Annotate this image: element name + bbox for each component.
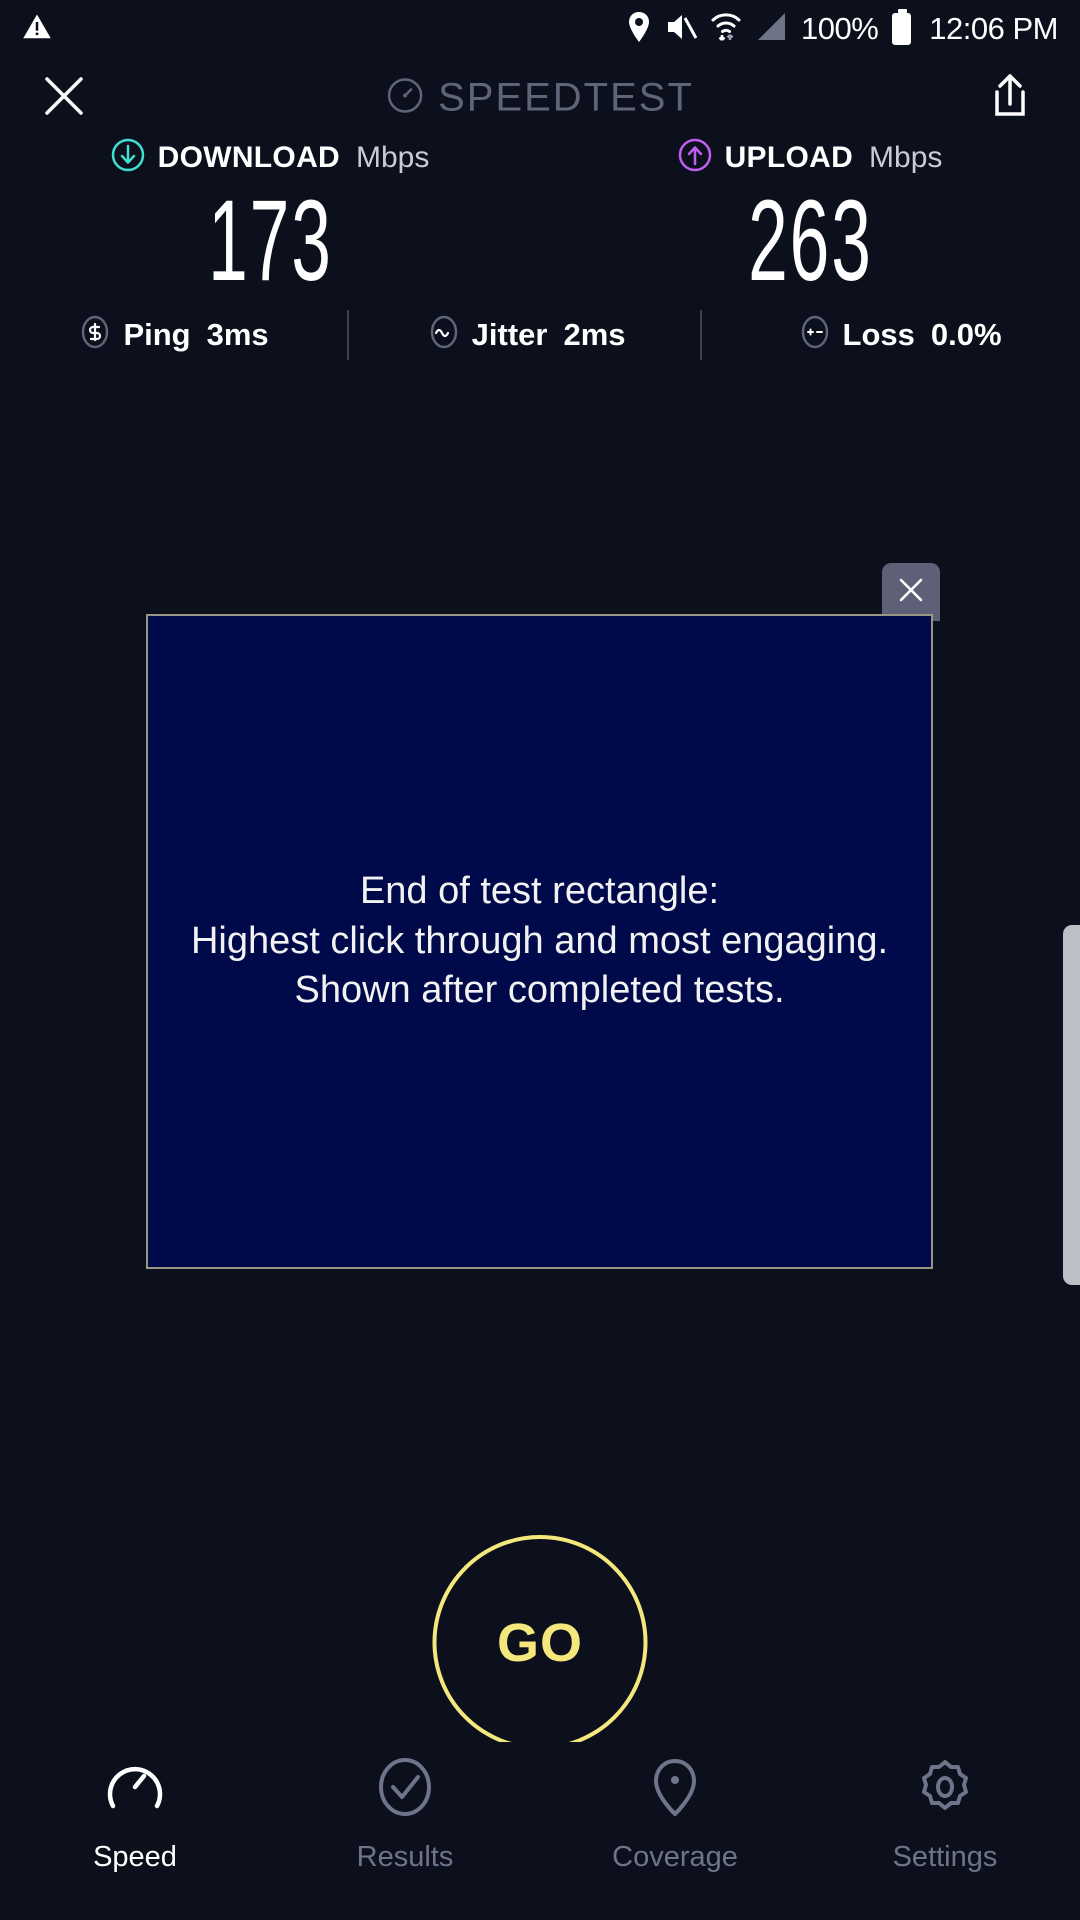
metric-divider-1 — [347, 310, 349, 360]
download-value: 173 — [208, 181, 333, 302]
status-bar: 100% 12:06 PM — [0, 0, 1080, 58]
nav-item-settings[interactable]: Settings — [810, 1756, 1080, 1874]
upload-unit: Mbps — [869, 141, 942, 175]
nav-label-results: Results — [357, 1841, 454, 1874]
ad-text-block: End of test rectangle: Highest click thr… — [181, 867, 898, 1015]
page-scrollbar[interactable] — [1063, 925, 1080, 1285]
loss-label: Loss — [843, 317, 915, 353]
wifi-icon — [711, 11, 741, 48]
ping-value: 3ms — [207, 317, 269, 353]
gear-icon — [914, 1756, 976, 1823]
ping-icon — [78, 315, 112, 354]
arrow-up-circle-icon — [678, 138, 712, 177]
location-pin-icon — [627, 11, 651, 48]
arrow-down-circle-icon — [111, 138, 145, 177]
cellular-signal-icon — [755, 11, 787, 48]
speedometer-icon — [104, 1756, 166, 1823]
close-x-icon — [42, 74, 86, 123]
ping-label: Ping — [123, 317, 190, 353]
metric-loss: Loss 0.0% — [794, 315, 1006, 354]
loss-value: 0.0% — [931, 317, 1002, 353]
nav-label-speed: Speed — [93, 1841, 177, 1874]
upload-header: UPLOAD Mbps — [678, 138, 943, 177]
battery-full-icon — [892, 13, 911, 45]
close-button[interactable] — [36, 70, 92, 126]
close-x-icon — [896, 575, 926, 610]
upload-label: UPLOAD — [725, 141, 853, 175]
app-header: SPEEDTEST — [0, 58, 1080, 138]
metric-jitter: Jitter 2ms — [423, 315, 630, 354]
go-button[interactable]: GO — [433, 1535, 648, 1750]
nav-item-coverage[interactable]: Coverage — [540, 1756, 810, 1874]
jitter-value: 2ms — [563, 317, 625, 353]
speedometer-icon — [386, 77, 424, 120]
download-label: DOWNLOAD — [158, 141, 340, 175]
ad-line-2: Highest click through and most engaging. — [191, 917, 888, 966]
battery-percent-label: 100% — [801, 11, 878, 47]
advertisement-banner[interactable]: End of test rectangle: Highest click thr… — [146, 614, 933, 1269]
warning-triangle-icon — [22, 12, 52, 47]
upload-value: 263 — [748, 181, 873, 302]
metric-divider-2 — [700, 310, 702, 360]
download-header: DOWNLOAD Mbps — [111, 138, 430, 177]
share-upload-icon — [989, 72, 1031, 125]
download-result: DOWNLOAD Mbps 173 — [0, 138, 540, 302]
nav-label-coverage: Coverage — [612, 1841, 738, 1874]
app-title-label: SPEEDTEST — [438, 76, 694, 121]
nav-label-settings: Settings — [893, 1841, 998, 1874]
status-bar-right: 100% 12:06 PM — [627, 11, 1058, 48]
nav-item-results[interactable]: Results — [270, 1756, 540, 1874]
go-button-label: GO — [497, 1612, 583, 1674]
jitter-icon — [427, 315, 461, 354]
status-bar-left — [22, 12, 52, 47]
ad-close-button[interactable] — [882, 563, 940, 621]
check-circle-icon — [374, 1756, 436, 1823]
app-title: SPEEDTEST — [386, 76, 694, 121]
bottom-navigation: Speed Results Coverage — [0, 1742, 1080, 1920]
network-metrics-row: Ping 3ms Jitter 2ms — [0, 310, 1080, 360]
nav-item-speed[interactable]: Speed — [0, 1756, 270, 1874]
jitter-label: Jitter — [472, 317, 548, 353]
speedtest-app-screen: 100% 12:06 PM SPEEDTEST — [0, 0, 1080, 1920]
download-unit: Mbps — [356, 141, 429, 175]
loss-icon — [798, 315, 832, 354]
ad-line-1: End of test rectangle: — [191, 867, 888, 916]
share-button[interactable] — [982, 70, 1038, 126]
clock-label: 12:06 PM — [929, 11, 1058, 47]
speed-results-row: DOWNLOAD Mbps 173 UPLOAD Mbps — [0, 138, 1080, 302]
upload-result: UPLOAD Mbps 263 — [540, 138, 1080, 302]
test-results-panel: DOWNLOAD Mbps 173 UPLOAD Mbps — [0, 138, 1080, 360]
volume-mute-icon — [665, 12, 697, 47]
map-pin-icon — [644, 1756, 706, 1823]
ad-line-3: Shown after completed tests. — [191, 966, 888, 1015]
metric-ping: Ping 3ms — [74, 315, 272, 354]
